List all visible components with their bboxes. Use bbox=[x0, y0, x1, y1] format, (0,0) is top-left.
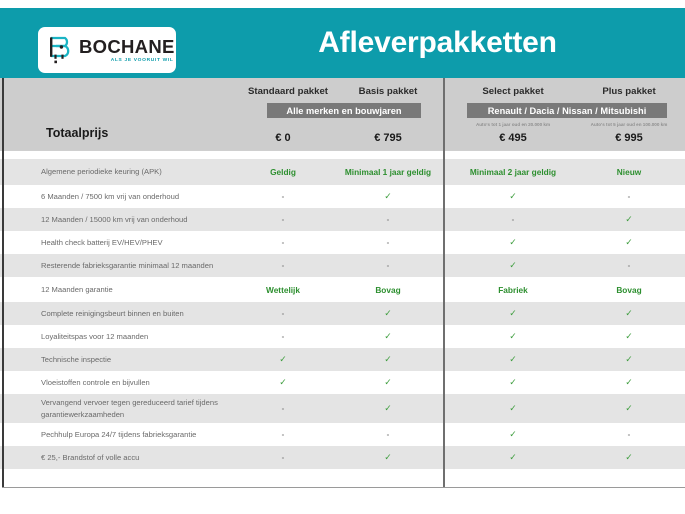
price-select: € 495 bbox=[448, 132, 578, 144]
cell-dash: - bbox=[248, 325, 318, 348]
cell-value: Minimaal 1 jaar geldig bbox=[336, 159, 440, 185]
cell-check-icon: ✓ bbox=[336, 325, 440, 348]
cell-check-icon: ✓ bbox=[580, 348, 678, 371]
cell-check-icon: ✓ bbox=[248, 371, 318, 394]
cell-check-icon: ✓ bbox=[580, 231, 678, 254]
feature-label: Loyaliteitspas voor 12 maanden bbox=[41, 325, 256, 348]
cell-value: Fabriek bbox=[448, 277, 578, 302]
package-subtitle-select: Auto's tot 1 jaar oud en 20.000 km bbox=[448, 122, 578, 127]
feature-label: Complete reinigingsbeurt binnen en buite… bbox=[41, 302, 256, 325]
cell-value: Bovag bbox=[336, 277, 440, 302]
price-basis: € 795 bbox=[336, 132, 440, 144]
table-row: € 25,- Brandstof of volle accu-✓✓✓ bbox=[0, 446, 685, 469]
cell-dash: - bbox=[248, 423, 318, 446]
cell-dash: - bbox=[448, 208, 578, 231]
cell-check-icon: ✓ bbox=[336, 185, 440, 208]
cell-check-icon: ✓ bbox=[580, 371, 678, 394]
cell-value: Nieuw bbox=[580, 159, 678, 185]
cell-dash: - bbox=[580, 185, 678, 208]
feature-label: 12 Maanden garantie bbox=[41, 277, 256, 302]
cell-check-icon: ✓ bbox=[448, 446, 578, 469]
feature-label: 6 Maanden / 7500 km vrij van onderhoud bbox=[41, 185, 256, 208]
page-title: Afleverpakketten bbox=[190, 8, 685, 78]
feature-label: Technische inspectie bbox=[41, 348, 256, 371]
table-row: Complete reinigingsbeurt binnen en buite… bbox=[0, 302, 685, 325]
cell-dash: - bbox=[248, 394, 318, 423]
package-name-select: Select pakket bbox=[448, 86, 578, 97]
cell-check-icon: ✓ bbox=[580, 446, 678, 469]
cell-value: Bovag bbox=[580, 277, 678, 302]
bottom-border-line bbox=[2, 487, 685, 488]
cell-dash: - bbox=[248, 208, 318, 231]
group-bar-renault-dacia-nissan-mitsubishi: Renault / Dacia / Nissan / Mitsubishi bbox=[467, 103, 667, 118]
cell-dash: - bbox=[336, 231, 440, 254]
table-row: 6 Maanden / 7500 km vrij van onderhoud-✓… bbox=[0, 185, 685, 208]
table-spacer-row bbox=[0, 151, 685, 159]
table-row: Technische inspectie✓✓✓✓ bbox=[0, 348, 685, 371]
cell-check-icon: ✓ bbox=[448, 254, 578, 277]
cell-check-icon: ✓ bbox=[448, 394, 578, 423]
cell-check-icon: ✓ bbox=[336, 348, 440, 371]
table-footer-row bbox=[0, 469, 685, 495]
table-row: Algemene periodieke keuring (APK)GeldigM… bbox=[0, 159, 685, 185]
table-row: Vloeistoffen controle en bijvullen✓✓✓✓ bbox=[0, 371, 685, 394]
package-subtitle-plus: Auto's tot 5 jaar oud en 100.000 km bbox=[577, 122, 681, 127]
cell-check-icon: ✓ bbox=[336, 371, 440, 394]
table-row: Pechhulp Europa 24/7 tijdens fabrieksgar… bbox=[0, 423, 685, 446]
cell-check-icon: ✓ bbox=[336, 446, 440, 469]
table-row: Health check batterij EV/HEV/PHEV--✓✓ bbox=[0, 231, 685, 254]
group-bar-alle-merken: Alle merken en bouwjaren bbox=[267, 103, 421, 118]
group-divider-line bbox=[443, 78, 445, 488]
feature-label: Vloeistoffen controle en bijvullen bbox=[41, 371, 256, 394]
feature-label: € 25,- Brandstof of volle accu bbox=[41, 446, 256, 469]
cell-dash: - bbox=[580, 423, 678, 446]
cell-dash: - bbox=[336, 423, 440, 446]
bochane-b-mark-icon bbox=[48, 35, 74, 65]
cell-check-icon: ✓ bbox=[248, 348, 318, 371]
logo-wordmark: BOCHANE ALS JE VOORUIT WIL bbox=[79, 38, 175, 63]
bochane-logo[interactable]: BOCHANE ALS JE VOORUIT WIL bbox=[38, 27, 176, 73]
cell-check-icon: ✓ bbox=[448, 231, 578, 254]
cell-dash: - bbox=[248, 446, 318, 469]
cell-value: Geldig bbox=[248, 159, 318, 185]
price-plus: € 995 bbox=[580, 132, 678, 144]
cell-dash: - bbox=[248, 231, 318, 254]
cell-value: Minimaal 2 jaar geldig bbox=[448, 159, 578, 185]
cell-check-icon: ✓ bbox=[448, 185, 578, 208]
feature-label: Health check batterij EV/HEV/PHEV bbox=[41, 231, 256, 254]
cell-check-icon: ✓ bbox=[448, 348, 578, 371]
column-header-band: Totaalprijs Standaard pakket Basis pakke… bbox=[0, 78, 685, 151]
left-border-line bbox=[2, 78, 4, 488]
cell-check-icon: ✓ bbox=[336, 394, 440, 423]
cell-check-icon: ✓ bbox=[448, 423, 578, 446]
cell-dash: - bbox=[248, 302, 318, 325]
feature-label: Resterende fabrieksgarantie minimaal 12 … bbox=[41, 254, 256, 277]
cell-dash: - bbox=[580, 254, 678, 277]
cell-check-icon: ✓ bbox=[580, 302, 678, 325]
table-row: Resterende fabrieksgarantie minimaal 12 … bbox=[0, 254, 685, 277]
logo-tagline: ALS JE VOORUIT WIL bbox=[111, 58, 174, 63]
afleverpakketten-page: BOCHANE ALS JE VOORUIT WIL Afleverpakket… bbox=[0, 0, 685, 514]
package-name-basis: Basis pakket bbox=[336, 86, 440, 97]
package-name-plus: Plus pakket bbox=[580, 86, 678, 97]
cell-check-icon: ✓ bbox=[580, 325, 678, 348]
feature-column-header: Totaalprijs bbox=[46, 126, 108, 140]
cell-check-icon: ✓ bbox=[580, 394, 678, 423]
cell-value: Wettelijk bbox=[248, 277, 318, 302]
cell-dash: - bbox=[336, 208, 440, 231]
cell-check-icon: ✓ bbox=[448, 325, 578, 348]
cell-check-icon: ✓ bbox=[336, 302, 440, 325]
feature-label: Algemene periodieke keuring (APK) bbox=[41, 159, 256, 185]
cell-check-icon: ✓ bbox=[448, 371, 578, 394]
cell-dash: - bbox=[248, 185, 318, 208]
feature-label: Vervangend vervoer tegen gereduceerd tar… bbox=[41, 394, 256, 423]
feature-label: Pechhulp Europa 24/7 tijdens fabrieksgar… bbox=[41, 423, 256, 446]
cell-dash: - bbox=[336, 254, 440, 277]
logo-word: BOCHANE bbox=[79, 38, 175, 57]
table-row: Vervangend vervoer tegen gereduceerd tar… bbox=[0, 394, 685, 423]
cell-check-icon: ✓ bbox=[580, 208, 678, 231]
comparison-table: Algemene periodieke keuring (APK)GeldigM… bbox=[0, 151, 685, 495]
table-row: 12 Maanden garantieWettelijkBovagFabriek… bbox=[0, 277, 685, 302]
page-header: BOCHANE ALS JE VOORUIT WIL Afleverpakket… bbox=[0, 8, 685, 78]
price-standaard: € 0 bbox=[248, 132, 318, 144]
table-row: Loyaliteitspas voor 12 maanden-✓✓✓ bbox=[0, 325, 685, 348]
cell-dash: - bbox=[248, 254, 318, 277]
cell-check-icon: ✓ bbox=[448, 302, 578, 325]
feature-label: 12 Maanden / 15000 km vrij van onderhoud bbox=[41, 208, 256, 231]
table-row: 12 Maanden / 15000 km vrij van onderhoud… bbox=[0, 208, 685, 231]
package-name-standaard: Standaard pakket bbox=[248, 86, 318, 97]
